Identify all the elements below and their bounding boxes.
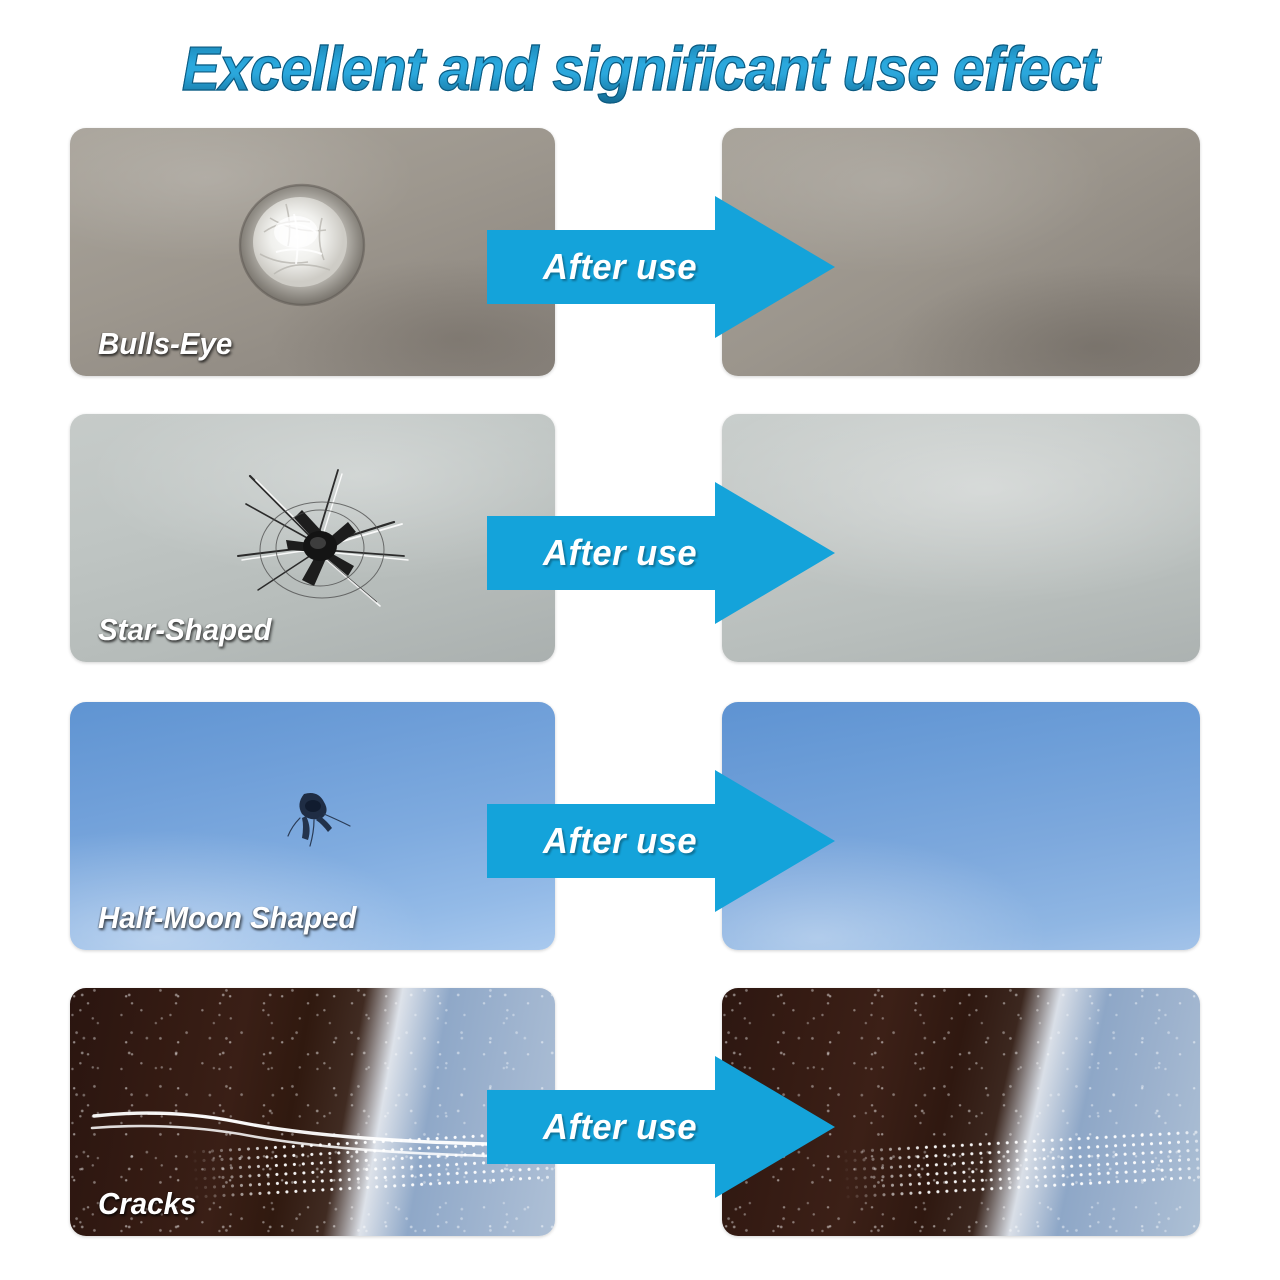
comparison-row-cracks: Cracks After use — [0, 988, 1280, 1236]
after-use-arrow-half-moon-shaped[interactable]: After use — [487, 770, 835, 912]
after-use-arrow-star-shaped[interactable]: After use — [487, 482, 835, 624]
arrow-label: After use — [543, 196, 760, 338]
comparison-row-bulls-eye: Bulls-Eye After use — [0, 128, 1280, 376]
after-use-arrow-bulls-eye[interactable]: After use — [487, 196, 835, 338]
before-panel-star-shaped[interactable]: Star-Shaped — [70, 414, 555, 662]
arrow-label: After use — [543, 1056, 760, 1198]
damage-type-label: Cracks — [98, 1186, 196, 1222]
before-panel-bulls-eye[interactable]: Bulls-Eye — [70, 128, 555, 376]
arrow-label: After use — [543, 482, 760, 624]
after-use-arrow-cracks[interactable]: After use — [487, 1056, 835, 1198]
comparison-row-half-moon-shaped: Half-Moon Shaped After use — [0, 702, 1280, 950]
arrow-label: After use — [543, 770, 760, 912]
comparison-rows: Bulls-Eye After use — [0, 0, 1280, 1280]
comparison-row-star-shaped: Star-Shaped After use — [0, 414, 1280, 662]
before-panel-half-moon-shaped[interactable]: Half-Moon Shaped — [70, 702, 555, 950]
before-panel-cracks[interactable]: Cracks — [70, 988, 555, 1236]
damage-type-label: Bulls-Eye — [98, 326, 232, 362]
damage-type-label: Half-Moon Shaped — [98, 900, 357, 936]
damage-type-label: Star-Shaped — [98, 612, 271, 648]
